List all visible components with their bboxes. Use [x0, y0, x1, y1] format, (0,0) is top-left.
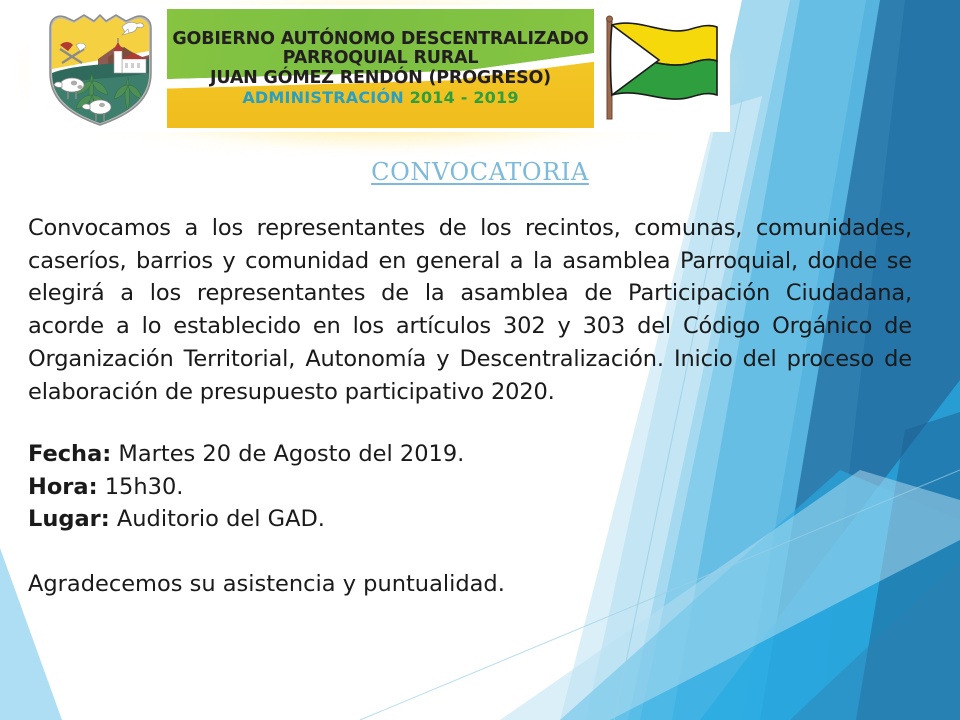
banner-text-block: GOBIERNO AUTÓNOMO DESCENTRALIZADO PARROQ… [167, 9, 594, 128]
detail-value-hora: 15h30. [105, 474, 184, 500]
page-title: CONVOCATORIA [0, 158, 960, 186]
administration-years: 2014 - 2019 [410, 88, 519, 107]
detail-row-hora: Hora: 15h30. [28, 471, 912, 503]
slide-content: CONVOCATORIA Convocamos a los representa… [0, 140, 960, 600]
banner-line-3: JUAN GÓMEZ RENDÓN (PROGRESO) [210, 69, 551, 88]
event-details: Fecha: Martes 20 de Agosto del 2019. Hor… [28, 438, 912, 535]
banner-line-1: GOBIERNO AUTÓNOMO DESCENTRALIZADO [172, 30, 588, 49]
detail-label-lugar: Lugar: [28, 506, 110, 532]
coat-of-arms-icon [38, 11, 163, 127]
detail-value-lugar: Auditorio del GAD. [117, 506, 325, 532]
announcement-paragraph: Convocamos a los representantes de los r… [28, 212, 912, 408]
closing-line: Agradecemos su asistencia y puntualidad. [28, 568, 912, 600]
detail-label-hora: Hora: [28, 474, 98, 500]
detail-row-fecha: Fecha: Martes 20 de Agosto del 2019. [28, 438, 912, 470]
detail-label-fecha: Fecha: [28, 441, 111, 467]
slide-canvas: GOBIERNO AUTÓNOMO DESCENTRALIZADO PARROQ… [0, 0, 960, 720]
banner-line-administration: ADMINISTRACIÓN 2014 - 2019 [242, 90, 518, 107]
announcement-body: Convocamos a los representantes de los r… [28, 212, 912, 600]
detail-row-lugar: Lugar: Auditorio del GAD. [28, 503, 912, 535]
flag-finial [607, 16, 613, 22]
administration-label: ADMINISTRACIÓN [242, 88, 404, 107]
banner-line-2: PARROQUIAL RURAL [283, 49, 479, 68]
institution-banner: GOBIERNO AUTÓNOMO DESCENTRALIZADO PARROQ… [30, 5, 730, 132]
parish-flag-icon [597, 15, 723, 123]
detail-value-fecha: Martes 20 de Agosto del 2019. [118, 441, 464, 467]
